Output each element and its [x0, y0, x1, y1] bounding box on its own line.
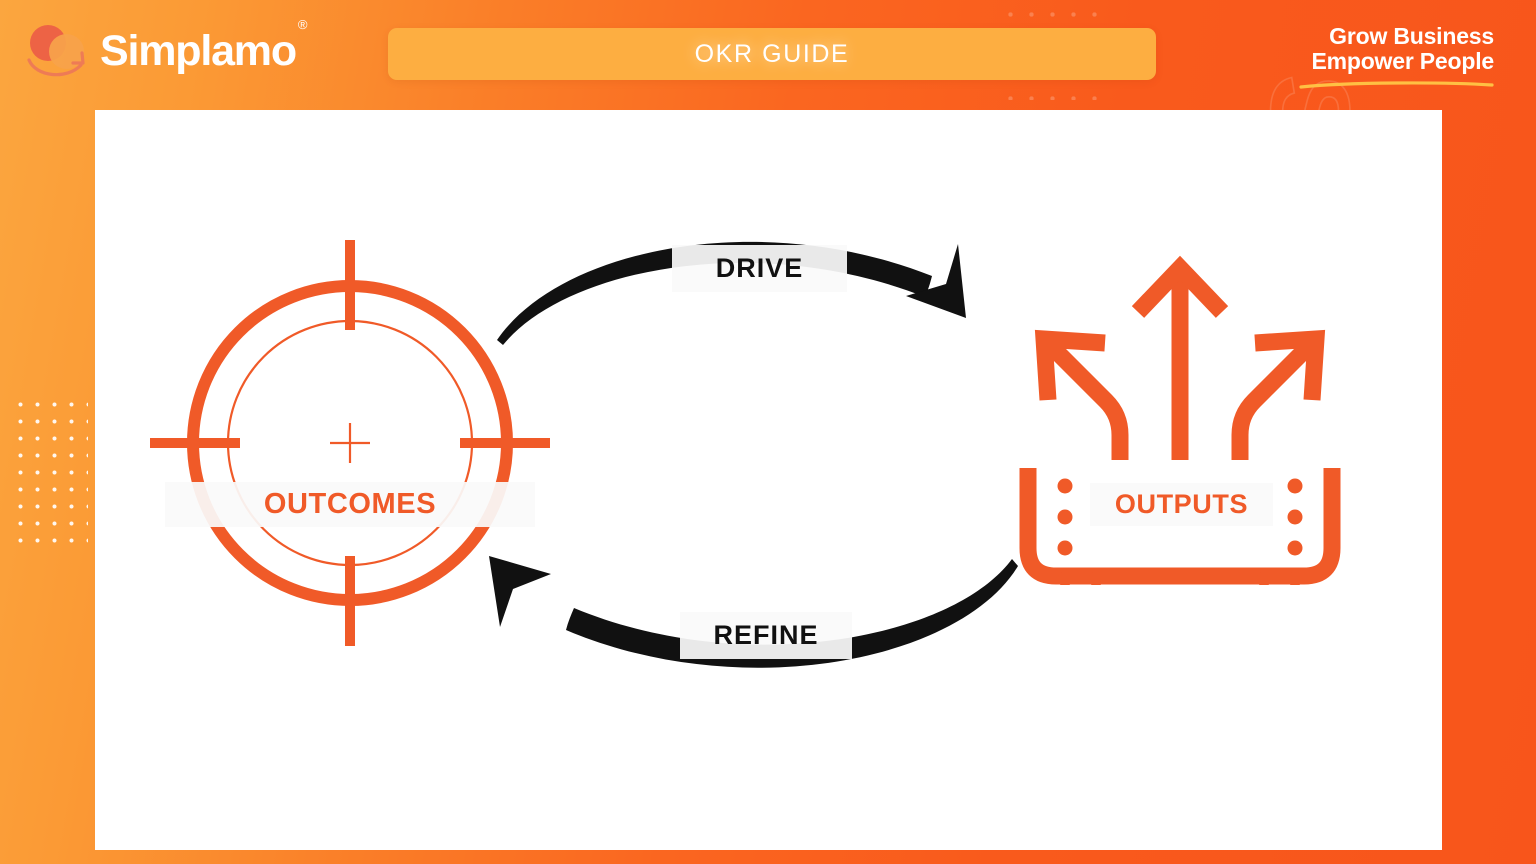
drive-arrowhead-icon — [906, 244, 966, 318]
outputs-label: OUTPUTS — [1090, 483, 1273, 526]
outputs-tray-arrows-icon — [1010, 250, 1350, 585]
okr-cycle-diagram: OUTCOMES — [0, 0, 1536, 864]
drive-label: DRIVE — [672, 245, 847, 292]
refine-label: REFINE — [680, 612, 852, 659]
target-crosshair-icon — [150, 238, 550, 648]
outcomes-label: OUTCOMES — [165, 482, 535, 527]
